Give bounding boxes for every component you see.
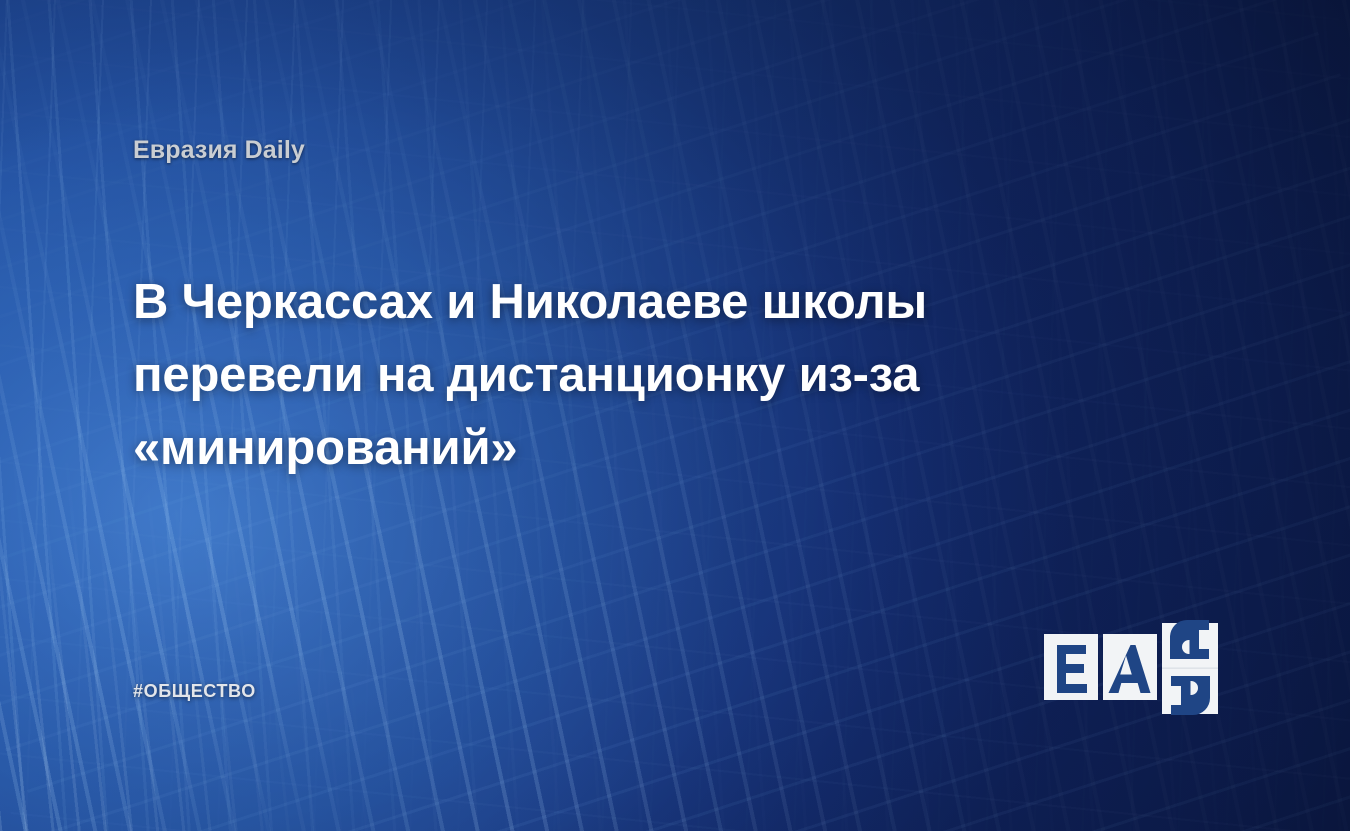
brand-wordmark: Евразия Daily (133, 136, 305, 165)
logo-tile-seam (1162, 667, 1218, 669)
card-content: Евразия Daily В Черкассах и Николаеве шк… (0, 0, 1350, 831)
eadaily-logo-mark (1043, 620, 1223, 715)
eadaily-logo[interactable] (1043, 620, 1223, 715)
headline: В Черкассах и Николаеве школы перевели н… (133, 266, 1093, 485)
logo-letter-e (1057, 645, 1087, 693)
logo-tile-d (1162, 620, 1218, 715)
logo-tile-a (1103, 634, 1157, 700)
logo-tile-e (1044, 634, 1098, 700)
category-tag[interactable]: #ОБЩЕСТВО (133, 681, 256, 702)
news-share-card: Евразия Daily В Черкассах и Николаеве шк… (0, 0, 1350, 831)
